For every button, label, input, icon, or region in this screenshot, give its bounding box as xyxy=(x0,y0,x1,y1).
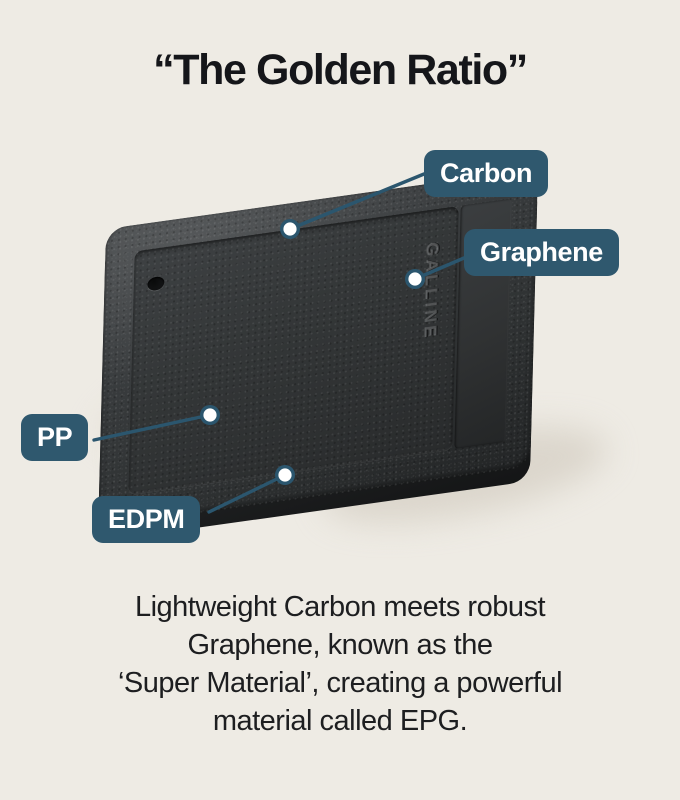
caption-line-2: Graphene, known as the xyxy=(30,626,650,664)
page-title: “The Golden Ratio” xyxy=(0,46,680,95)
panel-inset-texture xyxy=(128,206,458,495)
callout-badge-pp[interactable]: PP xyxy=(21,414,88,461)
callout-badge-carbon[interactable]: Carbon xyxy=(424,150,548,197)
composite-panel: GALLINE xyxy=(98,168,538,535)
panel-top-face: GALLINE xyxy=(98,168,538,527)
caption-block: Lightweight Carbon meets robust Graphene… xyxy=(30,588,650,740)
panel-embossed-brand: GALLINE xyxy=(419,218,442,364)
caption-line-3: ‘Super Material’, creating a powerful xyxy=(30,664,650,702)
caption-line-1: Lightweight Carbon meets robust xyxy=(30,588,650,626)
caption-line-4: material called EPG. xyxy=(30,702,650,740)
panel-recessed-area xyxy=(128,206,458,495)
callout-badge-graphene[interactable]: Graphene xyxy=(464,229,619,276)
callout-badge-edpm[interactable]: EDPM xyxy=(92,496,200,543)
infographic-page: “The Golden Ratio” GALLINE xyxy=(0,0,680,800)
